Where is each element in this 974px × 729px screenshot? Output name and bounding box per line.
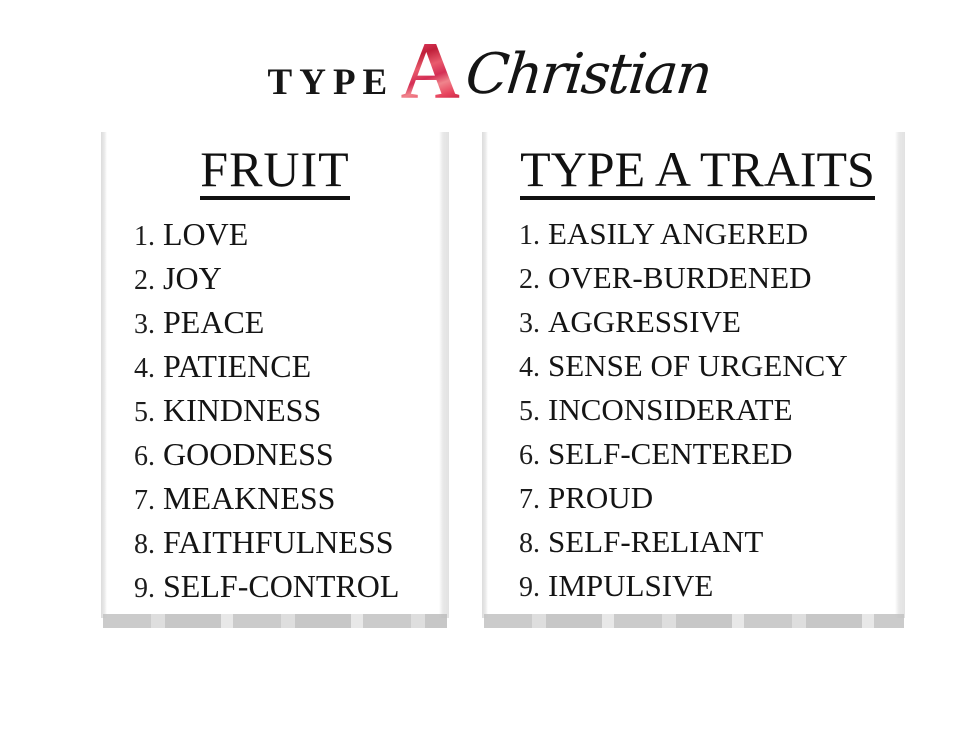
list-item-label: FAITHFULNESS (163, 526, 394, 558)
card-shadow-left (482, 132, 488, 618)
list-item: 9.IMPULSIVE (498, 570, 913, 614)
list-item: 2.OVER-BURDENED (498, 262, 913, 306)
traits-list: 1.EASILY ANGERED 2.OVER-BURDENED 3.AGGRE… (490, 218, 913, 614)
list-item: 6.SELF-CENTERED (498, 438, 913, 482)
list-item-number: 9. (498, 572, 548, 604)
list-item-label: OVER-BURDENED (548, 262, 812, 293)
list-item-number: 8. (113, 529, 163, 561)
list-item: 8.FAITHFULNESS (113, 526, 453, 570)
list-item-label: IMPULSIVE (548, 570, 713, 601)
list-item-number: 5. (113, 397, 163, 429)
list-item-number: 2. (113, 265, 163, 297)
list-item-number: 9. (113, 573, 163, 605)
card-type-a-traits: TYPE A TRAITS 1.EASILY ANGERED 2.OVER-BU… (490, 132, 905, 630)
list-item-label: SELF-RELIANT (548, 526, 763, 557)
list-item-number: 1. (498, 220, 548, 252)
header-word-type: TYPE (268, 64, 395, 101)
list-item-number: 6. (113, 441, 163, 473)
list-item-label: AGGRESSIVE (548, 306, 741, 337)
card-shadow-bottom (484, 614, 904, 628)
list-item: 3.PEACE (113, 306, 453, 350)
list-item: 3.AGGRESSIVE (498, 306, 913, 350)
header-letter-a: A (400, 31, 460, 111)
cards-container: FRUIT 1.LOVE 2.JOY 3.PEACE 4.PATIENCE 5.… (0, 132, 974, 632)
list-item-label: PATIENCE (163, 350, 311, 382)
list-item: 5.KINDNESS (113, 394, 453, 438)
list-item: 5.INCONSIDERATE (498, 394, 913, 438)
list-item-label: SENSE OF URGENCY (548, 350, 848, 381)
card-shadow-bottom (103, 614, 447, 628)
header-letter-a-graphic: A A (400, 31, 460, 111)
list-item-label: EASILY ANGERED (548, 218, 808, 249)
fruit-list: 1.LOVE 2.JOY 3.PEACE 4.PATIENCE 5.KINDNE… (105, 218, 453, 614)
list-item-label: MEAKNESS (163, 482, 335, 514)
list-item: 7.MEAKNESS (113, 482, 453, 526)
list-item-label: INCONSIDERATE (548, 394, 793, 425)
list-item-number: 1. (113, 221, 163, 253)
list-item-label: KINDNESS (163, 394, 321, 426)
card-fruit-title-row: FRUIT (105, 144, 445, 200)
list-item-label: JOY (163, 262, 222, 294)
list-item: 9.SELF-CONTROL (113, 570, 453, 614)
header-title-group: TYPE A A Christian (268, 27, 707, 107)
list-item: 6.GOODNESS (113, 438, 453, 482)
list-item: 2.JOY (113, 262, 453, 306)
list-item-label: SELF-CENTERED (548, 438, 793, 469)
list-item-number: 7. (113, 485, 163, 517)
list-item: 7.PROUD (498, 482, 913, 526)
header-word-christian: Christian (463, 47, 713, 103)
list-item: 4.SENSE OF URGENCY (498, 350, 913, 394)
card-type-a-traits-title-row: TYPE A TRAITS (490, 144, 905, 200)
list-item-label: PEACE (163, 306, 264, 338)
list-item: 4.PATIENCE (113, 350, 453, 394)
list-item-label: SELF-CONTROL (163, 570, 399, 602)
card-fruit-title: FRUIT (200, 144, 349, 200)
list-item-label: PROUD (548, 482, 653, 513)
card-fruit: FRUIT 1.LOVE 2.JOY 3.PEACE 4.PATIENCE 5.… (105, 132, 445, 630)
list-item-label: LOVE (163, 218, 248, 250)
card-type-a-traits-title: TYPE A TRAITS (520, 144, 875, 200)
list-item: 1.LOVE (113, 218, 453, 262)
list-item: 8.SELF-RELIANT (498, 526, 913, 570)
list-item-number: 5. (498, 396, 548, 428)
list-item: 1.EASILY ANGERED (498, 218, 913, 262)
list-item-number: 7. (498, 484, 548, 516)
list-item-number: 2. (498, 264, 548, 296)
page-header: TYPE A A Christian (0, 24, 974, 110)
list-item-number: 8. (498, 528, 548, 560)
list-item-number: 3. (113, 309, 163, 341)
list-item-number: 4. (498, 352, 548, 384)
list-item-number: 4. (113, 353, 163, 385)
list-item-label: GOODNESS (163, 438, 334, 470)
list-item-number: 3. (498, 308, 548, 340)
list-item-number: 6. (498, 440, 548, 472)
